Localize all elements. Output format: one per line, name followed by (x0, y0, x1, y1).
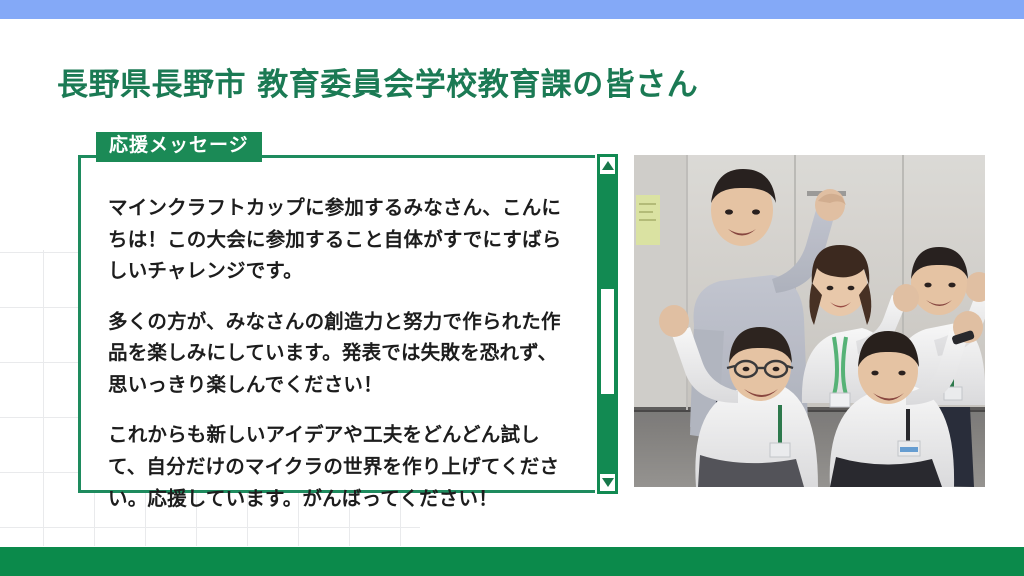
message-panel-tag-label: 応援メッセージ (96, 132, 262, 162)
message-paragraph-1: マインクラフトカップに参加するみなさん、こんにちは！この大会に参加すること自体が… (108, 192, 570, 287)
message-paragraph-2: 多くの方が、みなさんの創造力と努力で作られた作品を楽しみにしています。発表では失… (108, 306, 570, 401)
message-panel-body: マインクラフトカップに参加するみなさん、こんにちは！この大会に参加すること自体が… (108, 192, 570, 514)
group-photo (634, 155, 985, 487)
slide-canvas: 長野県長野市 教育委員会学校教育課の皆さん 応援メッセージ マインクラフトカップ… (0, 0, 1024, 576)
scroll-down-button[interactable] (599, 473, 616, 492)
scroll-down-arrow-icon (602, 478, 614, 487)
scroll-up-button[interactable] (599, 156, 616, 175)
page-title: 長野県長野市 教育委員会学校教育課の皆さん (57, 59, 698, 104)
message-scrollbar[interactable] (595, 152, 620, 496)
message-paragraph-3: これからも新しいアイデアや工夫をどんどん試して、自分だけのマイクラの世界を作り上… (108, 419, 570, 514)
scroll-up-arrow-icon (602, 161, 614, 170)
group-photo-image (634, 155, 985, 487)
top-blue-band (0, 0, 1024, 19)
scrollbar-thumb[interactable] (601, 289, 614, 394)
bottom-green-band (0, 547, 1024, 576)
